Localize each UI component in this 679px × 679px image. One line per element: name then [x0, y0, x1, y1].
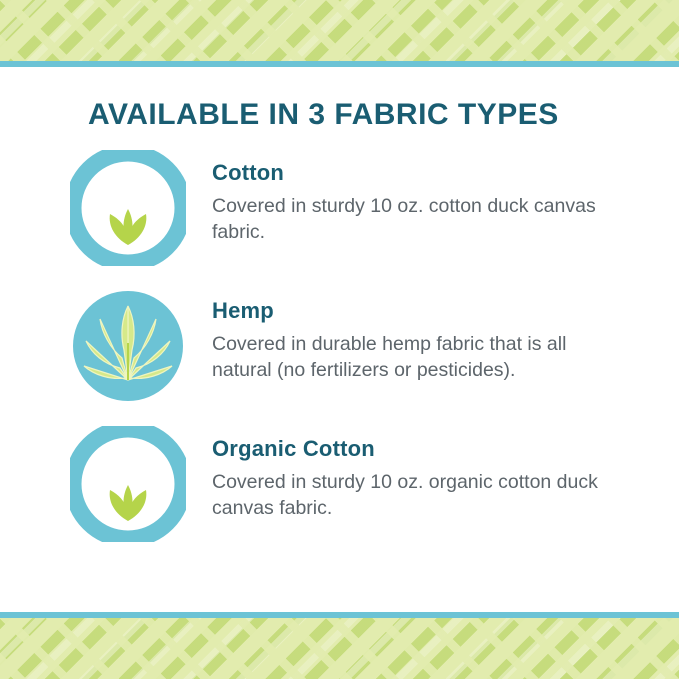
- cotton-boll-icon: [70, 150, 186, 266]
- fabric-description: Covered in durable hemp fabric that is a…: [212, 331, 612, 383]
- hemp-leaf-icon: [70, 288, 186, 404]
- diagonal-stripe-pattern-bottom: [0, 618, 679, 679]
- fabric-heading: Cotton: [212, 160, 612, 186]
- page-title: AVAILABLE IN 3 FABRIC TYPES: [88, 98, 559, 132]
- fabric-heading: Organic Cotton: [212, 436, 612, 462]
- fabric-types-infographic: AVAILABLE IN 3 FABRIC TYPES Cotton Cover…: [0, 0, 679, 679]
- fabric-text-organic-cotton: Organic Cotton Covered in sturdy 10 oz. …: [212, 426, 612, 521]
- fabric-description: Covered in sturdy 10 oz. organic cotton …: [212, 469, 612, 521]
- bottom-decorative-band: [0, 612, 679, 679]
- main-content: AVAILABLE IN 3 FABRIC TYPES Cotton Cover…: [0, 67, 679, 612]
- fabric-text-hemp: Hemp Covered in durable hemp fabric that…: [212, 288, 612, 383]
- fabric-heading: Hemp: [212, 298, 612, 324]
- cotton-boll-icon: [70, 426, 186, 542]
- fabric-item-cotton: Cotton Covered in sturdy 10 oz. cotton d…: [0, 150, 679, 266]
- diagonal-stripe-pattern-top: [0, 0, 679, 61]
- fabric-description: Covered in sturdy 10 oz. cotton duck can…: [212, 193, 612, 245]
- fabric-item-hemp: Hemp Covered in durable hemp fabric that…: [0, 288, 679, 404]
- fabric-item-organic-cotton: Organic Cotton Covered in sturdy 10 oz. …: [0, 426, 679, 542]
- top-decorative-band: [0, 0, 679, 67]
- fabric-text-cotton: Cotton Covered in sturdy 10 oz. cotton d…: [212, 150, 612, 245]
- fabric-list: Cotton Covered in sturdy 10 oz. cotton d…: [0, 150, 679, 564]
